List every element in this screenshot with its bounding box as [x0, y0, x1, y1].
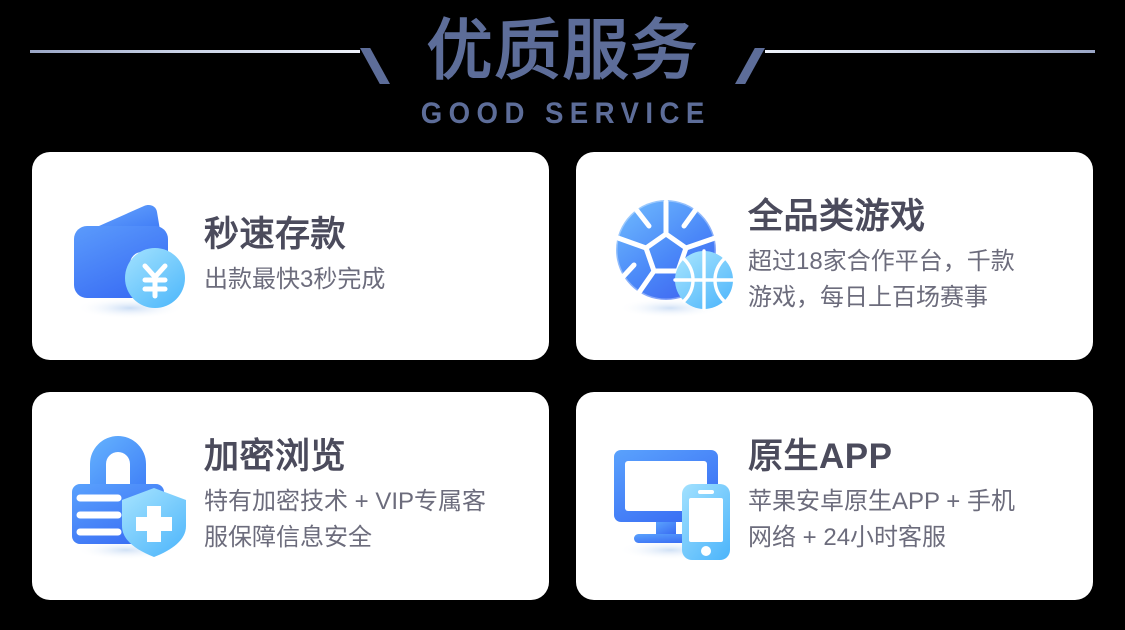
page-title: 优质服务 [0, 10, 1125, 90]
feature-card-desc-line: 服保障信息安全 [204, 520, 535, 556]
feature-card-games[interactable]: 全品类游戏 超过18家合作平台，千款 游戏，每日上百场赛事 [576, 152, 1093, 360]
feature-card-title: 原生APP [748, 436, 1079, 478]
wallet-yen-icon [60, 186, 200, 326]
poster-root: 优质服务 GOOD SERVICE [0, 0, 1125, 630]
page-subtitle: GOOD SERVICE [45, 96, 1080, 132]
feature-card-desc: 苹果安卓原生APP + 手机 网络 + 24小时客服 [748, 484, 1079, 556]
feature-card-desc-line: 超过18家合作平台，千款 [748, 244, 1079, 280]
feature-card-desc-line: 游戏，每日上百场赛事 [748, 280, 1079, 316]
feature-card-desc: 出款最快3秒完成 [204, 262, 535, 298]
feature-card-encryption[interactable]: 加密浏览 特有加密技术 + VIP专属客 服保障信息安全 [32, 392, 549, 600]
feature-card-desc: 特有加密技术 + VIP专属客 服保障信息安全 [204, 484, 535, 556]
feature-card-deposit[interactable]: 秒速存款 出款最快3秒完成 [32, 152, 549, 360]
soccer-basketball-icon [604, 186, 744, 326]
feature-card-desc-line: 苹果安卓原生APP + 手机 [748, 484, 1079, 520]
feature-card-desc-line: 特有加密技术 + VIP专属客 [204, 484, 535, 520]
feature-card-desc-line: 网络 + 24小时客服 [748, 520, 1079, 556]
monitor-phone-icon [604, 426, 744, 566]
feature-card-text: 原生APP 苹果安卓原生APP + 手机 网络 + 24小时客服 [744, 436, 1079, 556]
lock-shield-icon [60, 426, 200, 566]
feature-card-title: 秒速存款 [204, 214, 535, 256]
feature-card-native-app[interactable]: 原生APP 苹果安卓原生APP + 手机 网络 + 24小时客服 [576, 392, 1093, 600]
feature-card-text: 加密浏览 特有加密技术 + VIP专属客 服保障信息安全 [200, 436, 535, 556]
feature-card-desc: 超过18家合作平台，千款 游戏，每日上百场赛事 [748, 244, 1079, 316]
feature-card-title: 全品类游戏 [748, 196, 1079, 238]
feature-card-text: 全品类游戏 超过18家合作平台，千款 游戏，每日上百场赛事 [744, 196, 1079, 316]
feature-card-grid: 秒速存款 出款最快3秒完成 [32, 152, 1093, 600]
feature-card-title: 加密浏览 [204, 436, 535, 478]
feature-card-text: 秒速存款 出款最快3秒完成 [200, 214, 535, 298]
header: 优质服务 GOOD SERVICE [0, 0, 1125, 150]
